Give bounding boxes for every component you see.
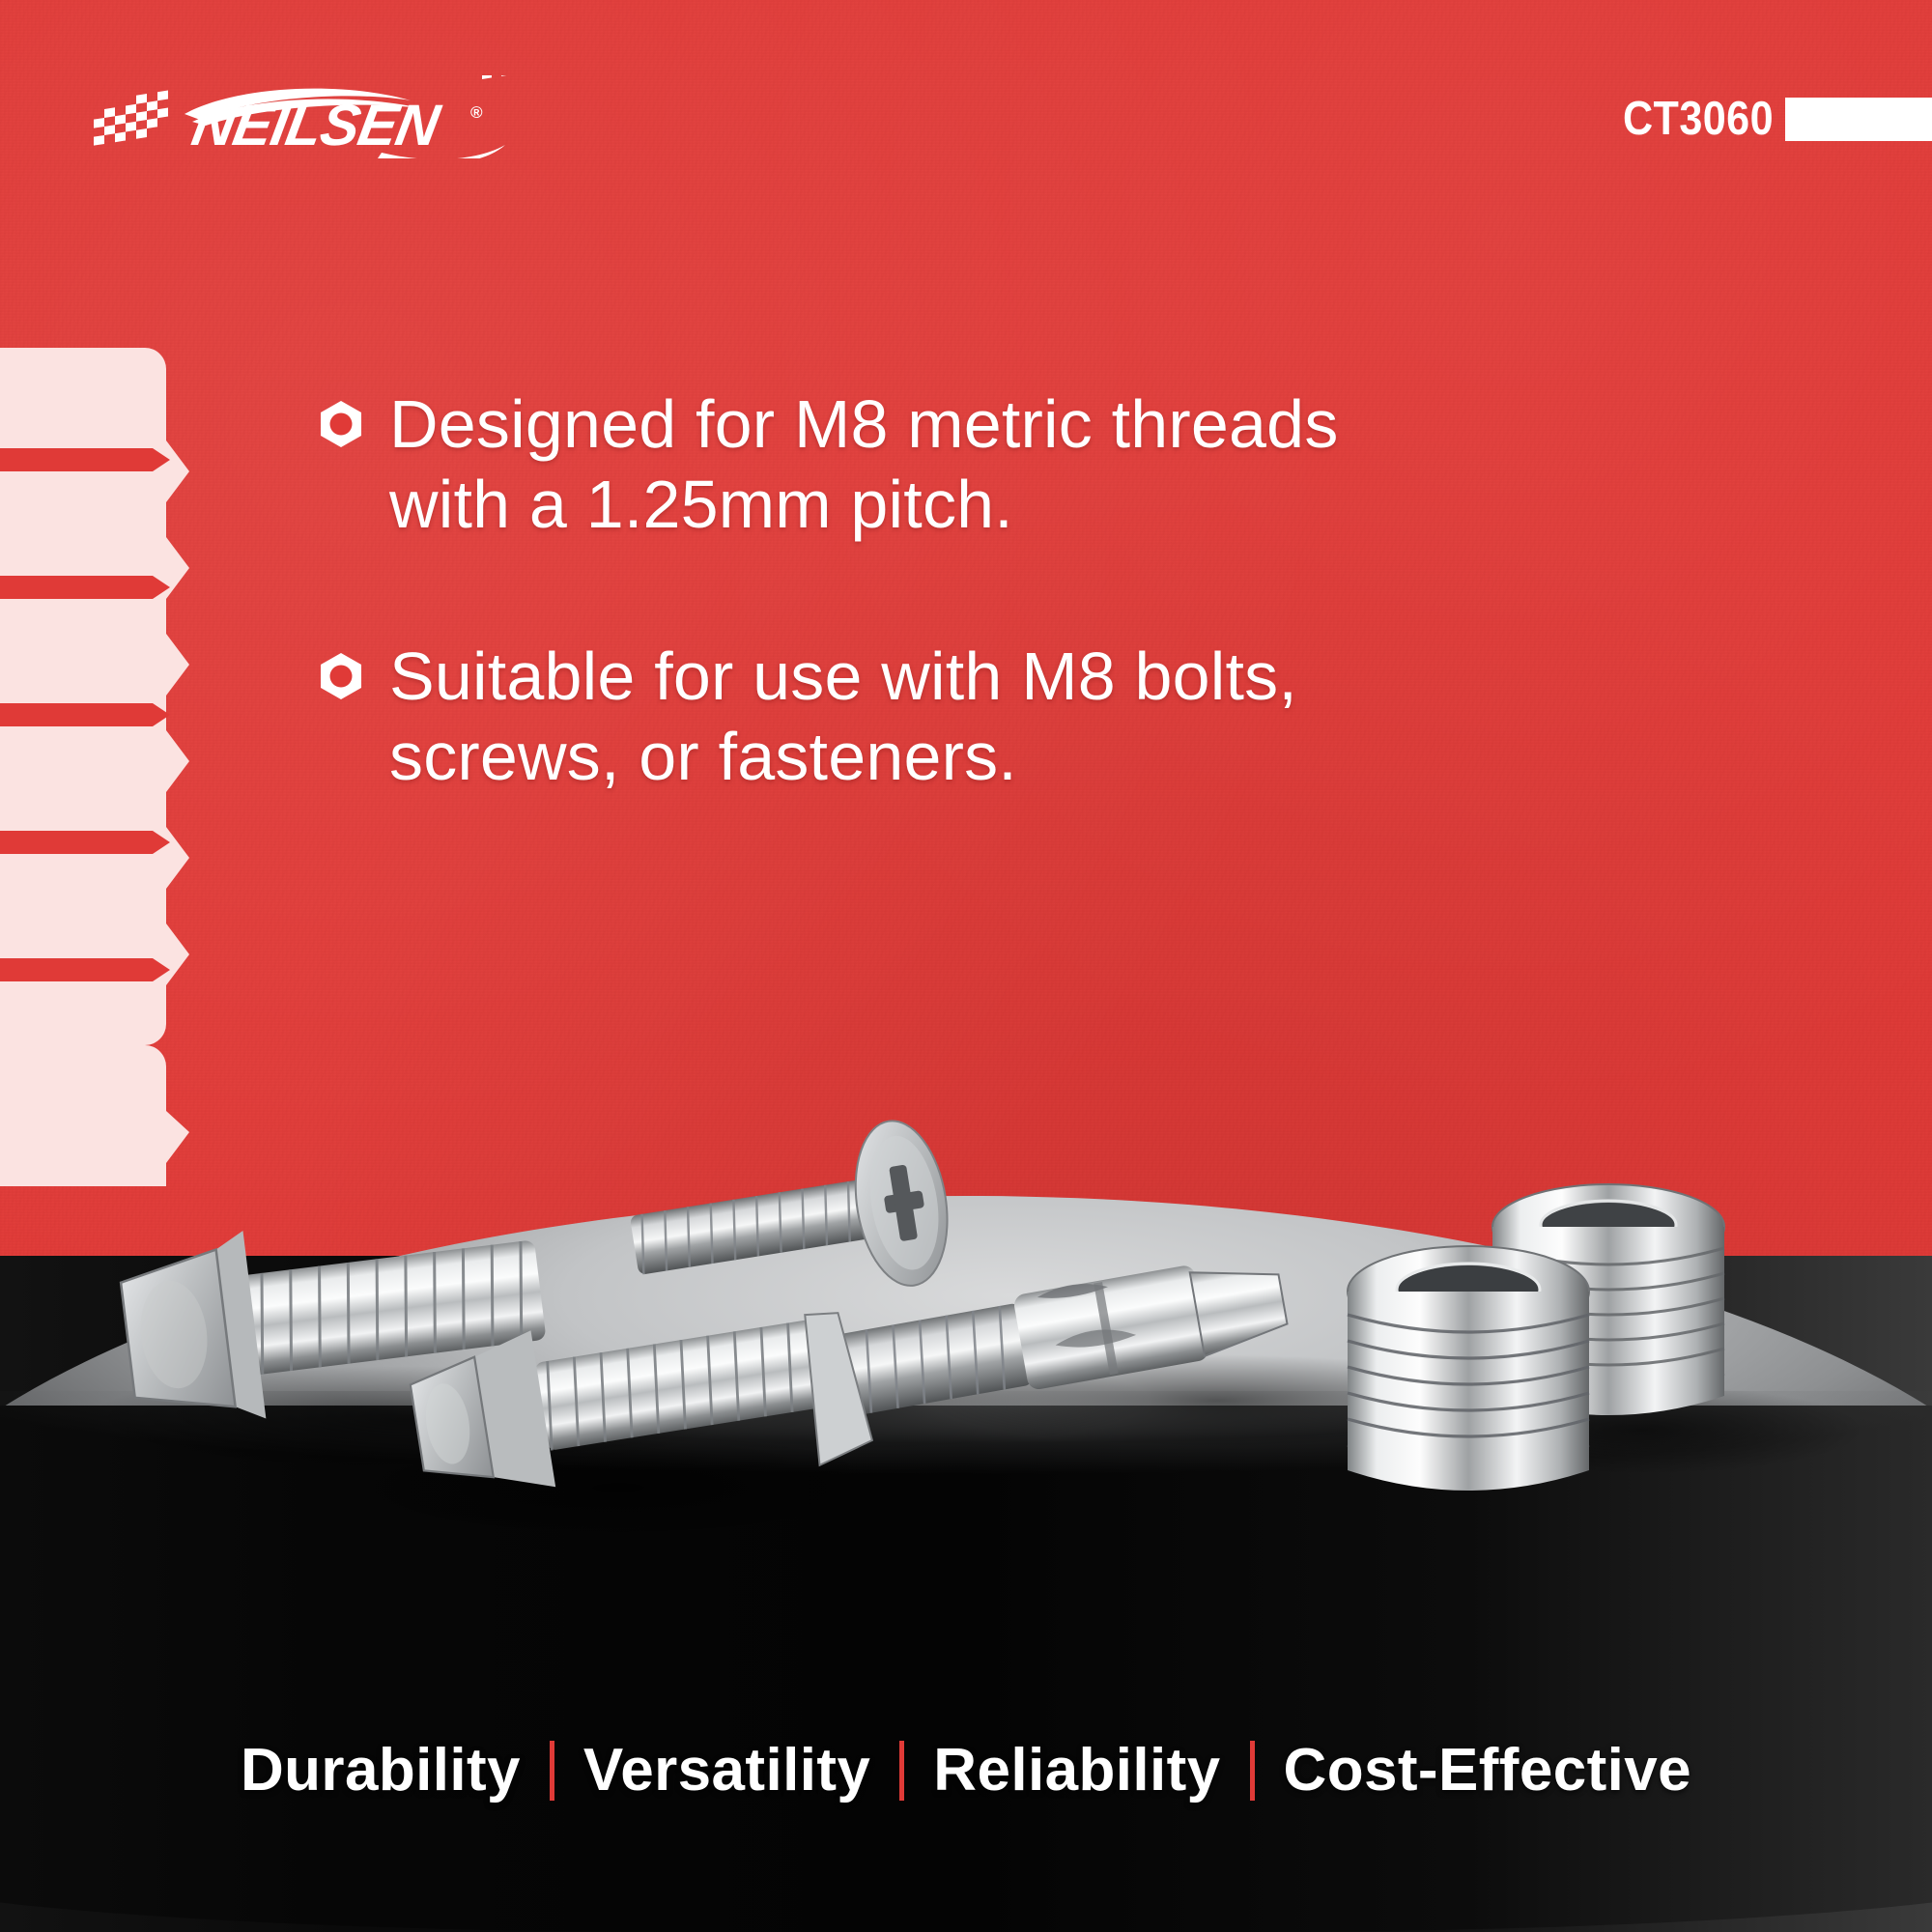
registered-trademark-icon: ® — [470, 103, 483, 122]
product-code: CT3060 — [1623, 92, 1785, 146]
feature-keyword-cost-effective: Cost-Effective — [1255, 1736, 1720, 1804]
hex-nut-icon — [317, 652, 365, 700]
helicoil-thread-insert — [1348, 1246, 1589, 1491]
feature-keyword-reliability: Reliability — [904, 1736, 1249, 1804]
product-code-row: CT3060 — [1601, 92, 1932, 146]
poster-header: NEILSEN ® CT3060 — [0, 0, 1932, 222]
product-photo — [0, 1111, 1932, 1787]
bullet-item: Designed for M8 metric threads with a 1.… — [317, 384, 1457, 544]
feature-bullet-list: Designed for M8 metric threads with a 1.… — [317, 384, 1457, 796]
bullet-item: Suitable for use with M8 bolts, screws, … — [317, 637, 1457, 796]
screw-thread-graphic — [0, 348, 222, 1198]
checkered-flag-icon — [482, 75, 550, 79]
checkered-flag-icon — [94, 90, 168, 145]
bullet-text: Designed for M8 metric threads with a 1.… — [389, 384, 1457, 544]
feature-keyword-versatility: Versatility — [554, 1736, 899, 1804]
feature-keywords-bar: Durability Versatility Reliability Cost-… — [0, 1736, 1932, 1804]
neilsen-logo[interactable]: NEILSEN ® — [92, 75, 555, 158]
pan-head-phillips-screw — [621, 1114, 958, 1327]
product-poster: NEILSEN ® CT3060 Designed for M8 metric … — [0, 0, 1932, 1932]
feature-keyword-durability: Durability — [212, 1736, 550, 1804]
logo-wordmark: NEILSEN — [187, 92, 445, 156]
hex-nut-icon — [317, 400, 365, 448]
bullet-text: Suitable for use with M8 bolts, screws, … — [389, 637, 1457, 796]
product-code-bar — [1785, 98, 1932, 141]
